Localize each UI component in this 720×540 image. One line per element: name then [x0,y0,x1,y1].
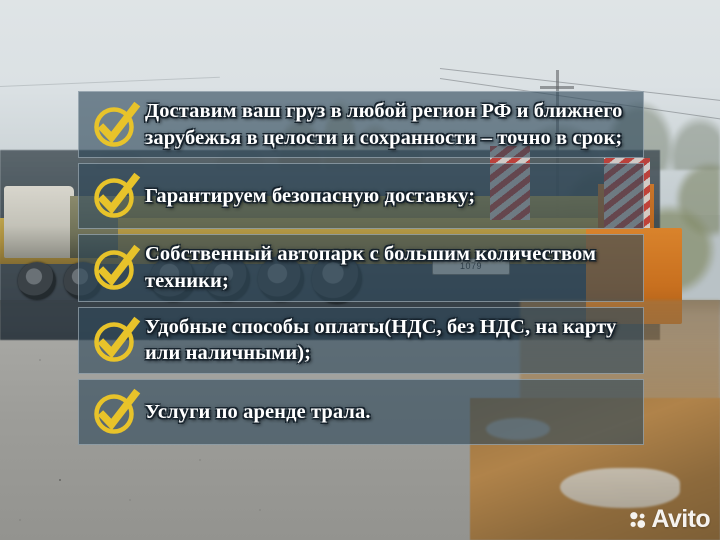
check-circle-icon [87,314,145,366]
list-item-label: Доставим ваш груз в любой регион РФ и бл… [145,98,633,151]
list-item-label: Удобные способы оплаты(НДС, без НДС, на … [145,314,633,367]
list-item: Доставим ваш груз в любой регион РФ и бл… [78,91,644,158]
check-circle-icon [87,170,145,222]
list-item: Удобные способы оплаты(НДС, без НДС, на … [78,307,644,374]
check-circle-icon [87,386,145,438]
feature-list: Доставим ваш груз в любой регион РФ и бл… [78,91,644,445]
puddle [560,468,680,508]
list-item-label: Услуги по аренде трала. [145,399,633,426]
list-item-label: Гарантируем безопасную доставку; [145,183,633,210]
list-item: Услуги по аренде трала. [78,379,644,445]
list-item: Гарантируем безопасную доставку; [78,163,644,229]
list-item: Собственный автопарк с большим количеств… [78,234,644,301]
list-item-label: Собственный автопарк с большим количеств… [145,241,633,294]
truck-cab [4,186,74,258]
wheel [18,262,56,300]
utility-pole-crossarm [540,86,574,89]
check-circle-icon [87,99,145,151]
promo-banner: 1079 Доставим ваш груз в любой регион РФ… [0,0,720,540]
check-circle-icon [87,242,145,294]
